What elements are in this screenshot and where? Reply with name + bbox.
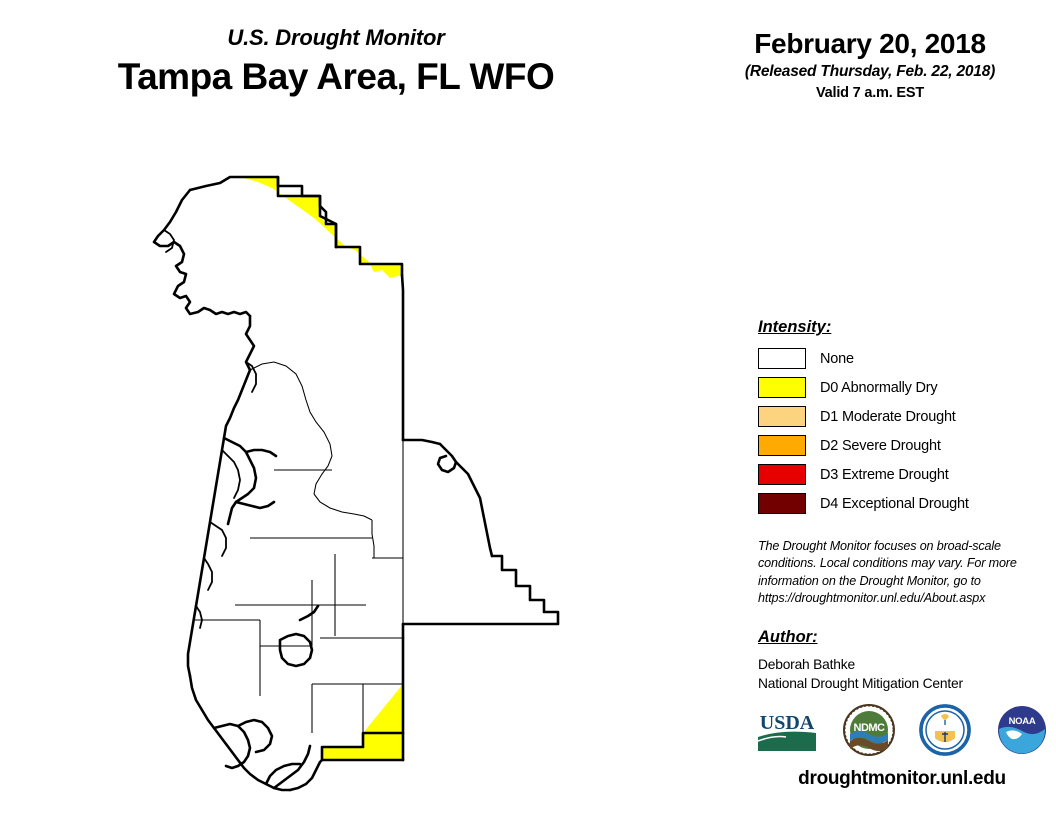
legend-label-d3: D3 Extreme Drought [820,467,949,483]
date-block: February 20, 2018 (Released Thursday, Fe… [690,28,1050,101]
author-block: Author: Deborah Bathke National Drought … [758,628,1048,693]
ndmc-logo: NDMC [843,704,895,761]
legend-swatch-d4 [758,493,806,514]
legend-title: Intensity: [758,318,1048,337]
author-name: Deborah Bathke [758,656,1048,675]
map-date: February 20, 2018 [690,28,1050,60]
legend-swatch-d2 [758,435,806,456]
legend-swatch-d3 [758,464,806,485]
legend-item-d2: D2 Severe Drought [758,433,1048,458]
author-title: Author: [758,628,1048,647]
svg-text:NDMC: NDMC [853,722,885,734]
valid-time: Valid 7 a.m. EST [690,85,1050,101]
noaa-logo: NOAA [996,704,1048,761]
legend-swatch-d0 [758,377,806,398]
map-svg [150,150,620,800]
page-title: Tampa Bay Area, FL WFO [0,56,672,99]
program-title: U.S. Drought Monitor [0,26,672,50]
drought-map [150,150,620,800]
title-block: U.S. Drought Monitor Tampa Bay Area, FL … [0,26,672,99]
legend-label-d1: D1 Moderate Drought [820,409,956,425]
legend-item-d4: D4 Exceptional Drought [758,491,1048,516]
agency-logos: USDA NDMC [756,702,1048,762]
usda-logo: USDA [756,707,818,758]
legend-swatch-none [758,348,806,369]
usdc-seal-logo [919,704,971,761]
region-outline [154,177,558,790]
legend: Intensity: NoneD0 Abnormally DryD1 Moder… [758,318,1048,520]
footer-url[interactable]: droughtmonitor.unl.edu [756,768,1048,790]
svg-text:USDA: USDA [760,712,815,734]
legend-item-d1: D1 Moderate Drought [758,404,1048,429]
legend-item-d3: D3 Extreme Drought [758,462,1048,487]
author-organization: National Drought Mitigation Center [758,675,1048,694]
legend-label-d0: D0 Abnormally Dry [820,380,937,396]
release-date: (Released Thursday, Feb. 22, 2018) [690,63,1050,81]
legend-label-none: None [820,351,854,367]
legend-item-none: None [758,346,1048,371]
disclaimer-text: The Drought Monitor focuses on broad-sca… [758,538,1026,608]
legend-swatch-d1 [758,406,806,427]
legend-item-d0: D0 Abnormally Dry [758,375,1048,400]
drought-monitor-map-page: U.S. Drought Monitor Tampa Bay Area, FL … [0,0,1056,816]
legend-rows: NoneD0 Abnormally DryD1 Moderate Drought… [758,346,1048,516]
legend-label-d4: D4 Exceptional Drought [820,496,969,512]
legend-label-d2: D2 Severe Drought [820,438,941,454]
svg-text:NOAA: NOAA [1009,716,1036,727]
coastline-detail [164,230,256,628]
